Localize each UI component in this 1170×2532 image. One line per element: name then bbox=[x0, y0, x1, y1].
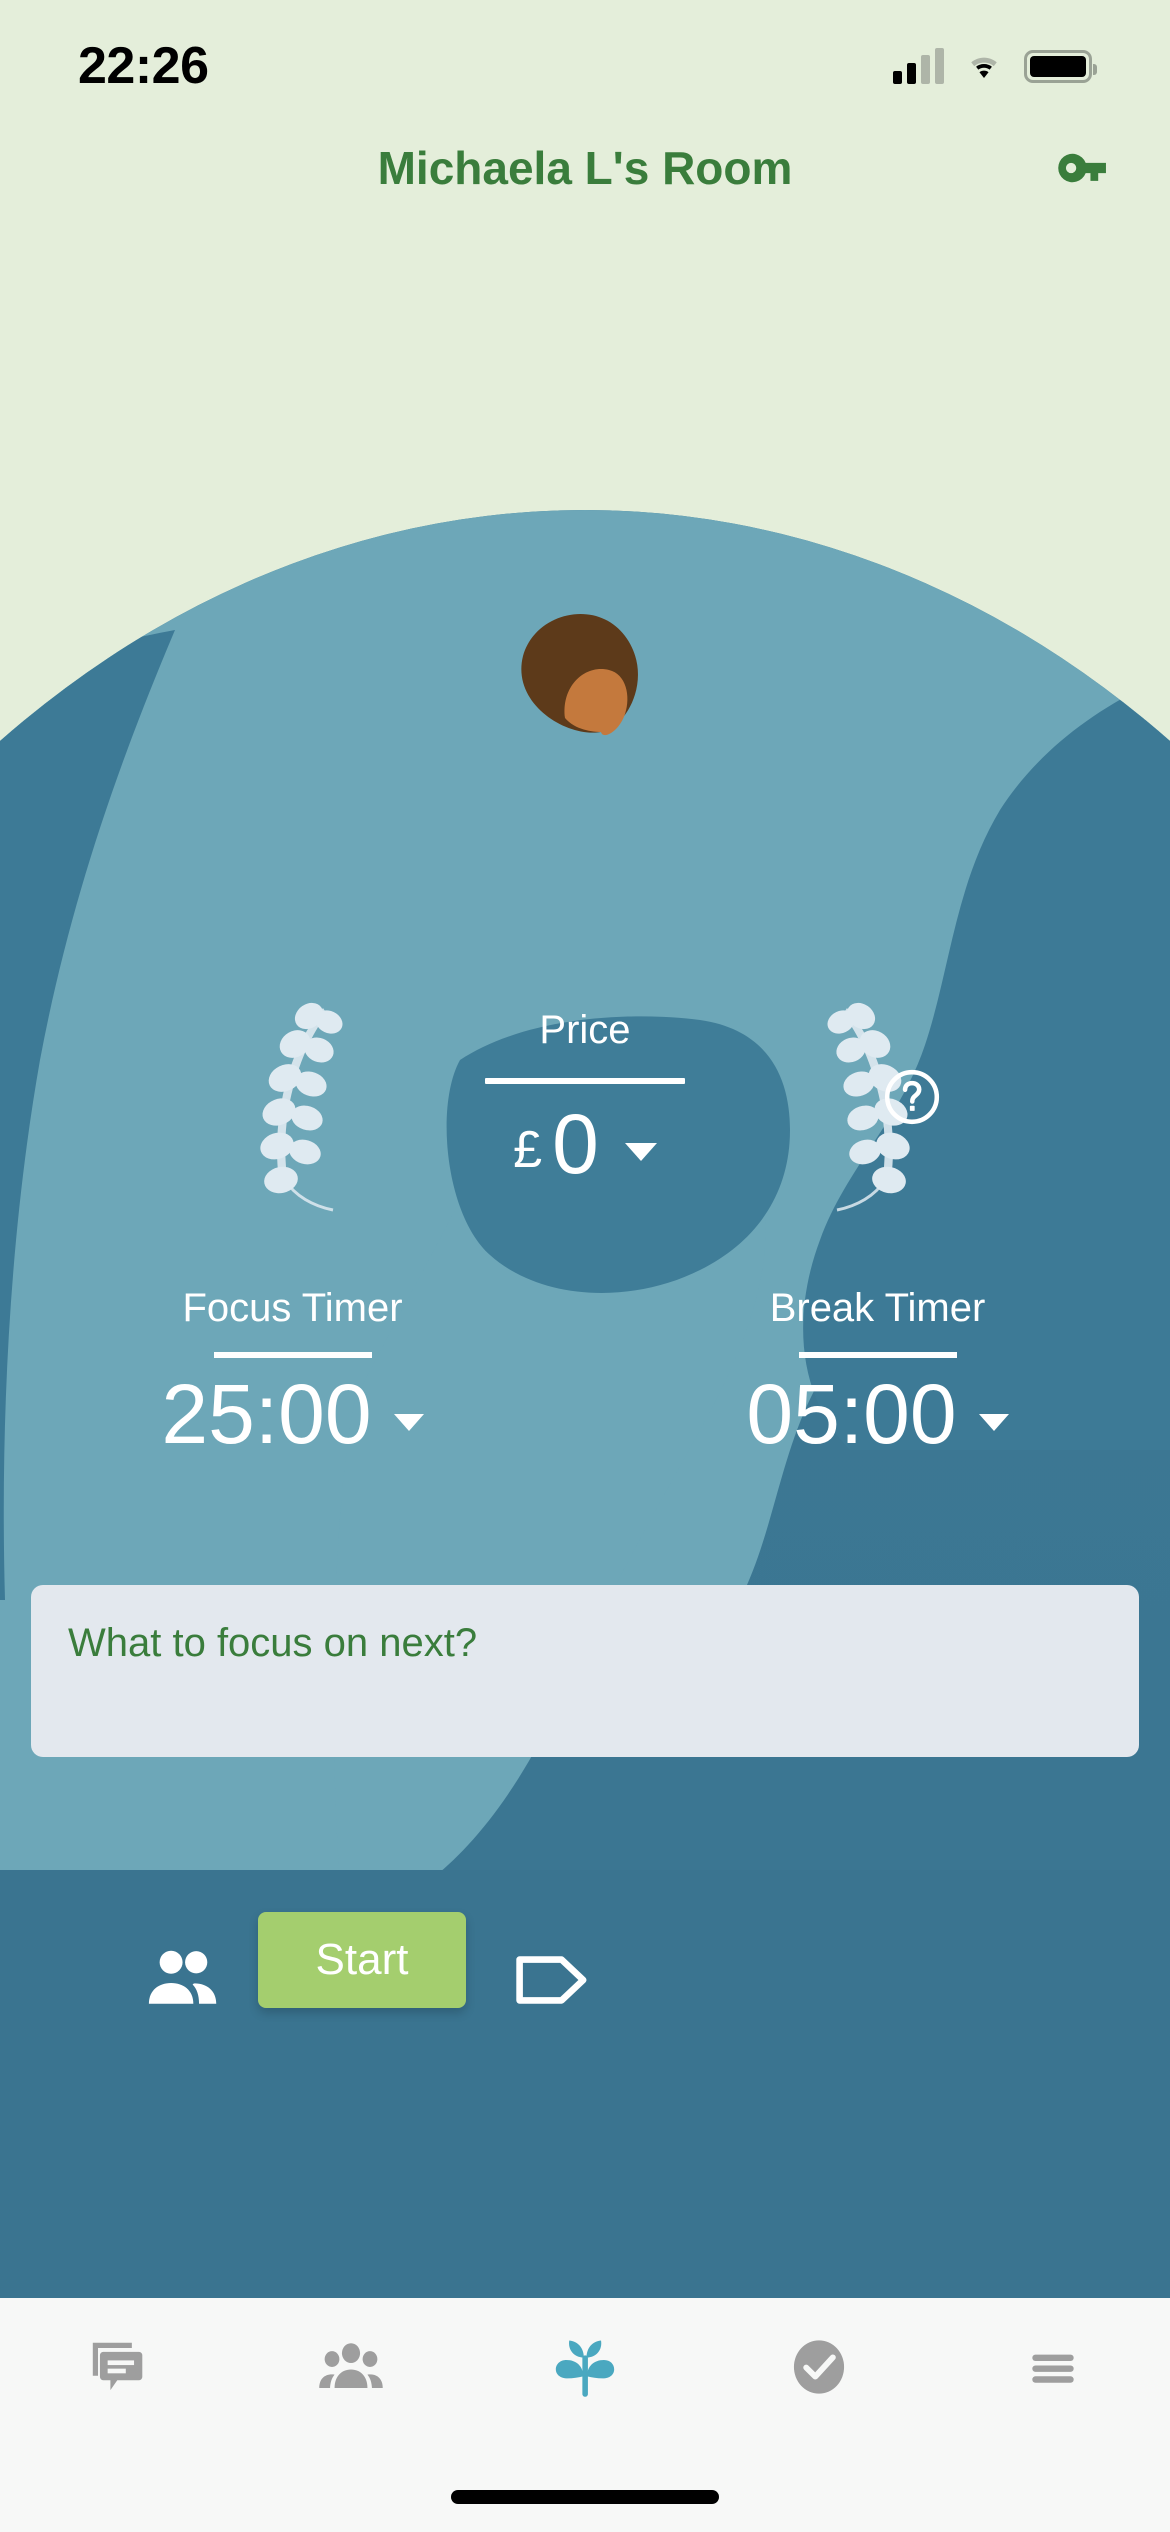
focus-note-placeholder: What to focus on next? bbox=[68, 1619, 1102, 1667]
price-section: Price £ 0 bbox=[0, 1010, 1170, 1186]
check-circle-icon bbox=[787, 2335, 851, 2399]
nav-item-groups[interactable] bbox=[234, 2298, 468, 2436]
break-timer-value: 05:00 bbox=[746, 1372, 956, 1456]
timers-section: Focus Timer 25:00 Break Timer 05:00 bbox=[0, 1288, 1170, 1456]
focus-timer: Focus Timer 25:00 bbox=[0, 1288, 585, 1456]
tag-icon-glyph bbox=[513, 1951, 591, 2009]
battery-icon bbox=[1024, 50, 1092, 83]
break-timer-selector[interactable]: 05:00 bbox=[585, 1372, 1170, 1456]
chevron-down-icon bbox=[394, 1414, 424, 1431]
status-bar: 22:26 bbox=[0, 0, 1170, 110]
price-currency: £ bbox=[513, 1124, 542, 1176]
price-value: 0 bbox=[552, 1102, 599, 1186]
break-timer-label: Break Timer bbox=[585, 1288, 1170, 1328]
people-icon[interactable] bbox=[136, 1930, 232, 2026]
status-clock: 22:26 bbox=[78, 36, 209, 96]
chevron-down-icon bbox=[979, 1414, 1009, 1431]
break-timer-divider bbox=[799, 1352, 957, 1358]
people-icon-glyph bbox=[141, 1942, 227, 2014]
help-circle-icon[interactable] bbox=[880, 1065, 944, 1129]
plant-sprout-icon bbox=[550, 2332, 620, 2402]
price-selector[interactable]: £ 0 bbox=[325, 1102, 845, 1186]
price-label: Price bbox=[325, 1010, 845, 1050]
groups-icon bbox=[317, 2333, 385, 2401]
home-indicator bbox=[451, 2490, 719, 2504]
chevron-down-icon bbox=[625, 1143, 657, 1161]
app-bar: Michaela L's Room bbox=[0, 110, 1170, 225]
status-indicators bbox=[893, 48, 1092, 84]
chat-forum-icon bbox=[84, 2334, 150, 2400]
key-icon[interactable] bbox=[1046, 130, 1122, 206]
nav-item-plant[interactable] bbox=[468, 2298, 702, 2436]
app-root: 22:26 Michaela L's Room bbox=[0, 0, 1170, 2532]
cellular-signal-icon bbox=[893, 48, 944, 84]
bottom-navigation bbox=[0, 2298, 1170, 2532]
tag-icon[interactable] bbox=[508, 1936, 596, 2024]
laurel-wreath-left-icon bbox=[225, 992, 365, 1217]
nav-item-menu[interactable] bbox=[936, 2298, 1170, 2436]
focus-note-input[interactable]: What to focus on next? bbox=[31, 1585, 1139, 1757]
help-circle-icon-glyph bbox=[880, 1065, 944, 1129]
nav-item-tasks[interactable] bbox=[702, 2298, 936, 2436]
nav-item-chat[interactable] bbox=[0, 2298, 234, 2436]
start-button-label: Start bbox=[316, 1935, 409, 1985]
focus-timer-divider bbox=[214, 1352, 372, 1358]
start-button[interactable]: Start bbox=[258, 1912, 466, 2008]
price-divider bbox=[485, 1078, 685, 1084]
seed-icon bbox=[505, 600, 665, 765]
break-timer: Break Timer 05:00 bbox=[585, 1288, 1170, 1456]
page-title: Michaela L's Room bbox=[378, 141, 793, 195]
wifi-icon bbox=[962, 49, 1006, 83]
focus-timer-selector[interactable]: 25:00 bbox=[0, 1372, 585, 1456]
action-row: Start bbox=[0, 1930, 1170, 2050]
focus-timer-label: Focus Timer bbox=[0, 1288, 585, 1328]
hamburger-menu-icon bbox=[1022, 2336, 1084, 2398]
key-icon-glyph bbox=[1053, 137, 1115, 199]
focus-timer-value: 25:00 bbox=[161, 1372, 371, 1456]
